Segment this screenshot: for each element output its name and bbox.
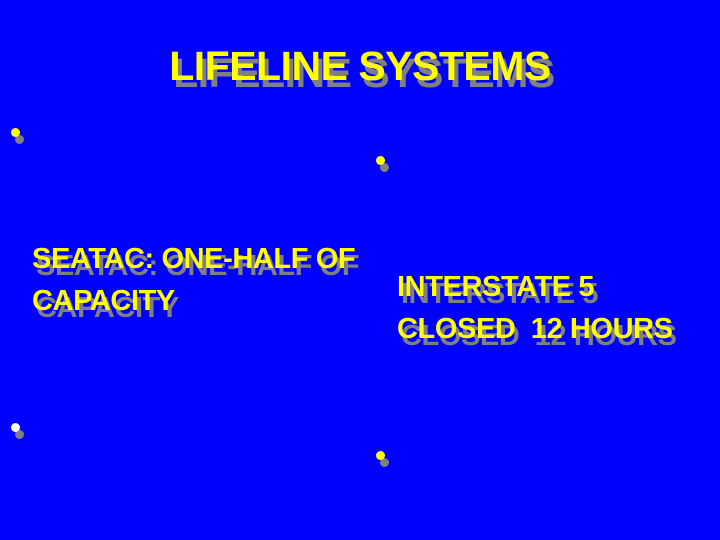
list-item-label: SEATAC: ONE-HALF OF CAPACITY [32, 238, 362, 322]
bullet-list-right: INTERSTATE 5 CLOSED 12 HOURS ALASKAN WAY… [371, 0, 720, 540]
bullet-column-left: SEATAC: ONE-HALF OF CAPACITY COMMUNICATI… [6, 0, 362, 540]
list-item-label: INTERSTATE 5 CLOSED 12 HOURS [397, 266, 720, 350]
bullet-dot-icon [11, 423, 20, 432]
bullet-column-right: INTERSTATE 5 CLOSED 12 HOURS ALASKAN WAY… [371, 0, 720, 540]
list-item-label: COMMUNICATIONS OUT 24 HOURS [32, 533, 362, 540]
bullet-dot-icon [376, 156, 385, 165]
bullet-list-left: SEATAC: ONE-HALF OF CAPACITY COMMUNICATI… [6, 0, 362, 540]
list-item: ALASKAN WAY VIADUCT OPEN-CLOSED-OPEN [371, 435, 720, 540]
bullet-dot-icon [376, 451, 385, 460]
list-item: SEATAC: ONE-HALF OF CAPACITY [6, 112, 362, 406]
bullet-dot-icon [11, 128, 20, 137]
list-item: INTERSTATE 5 CLOSED 12 HOURS [371, 140, 720, 434]
presentation-slide: LIFELINE SYSTEMS SEATAC: ONE-HALF OF CAP… [0, 0, 720, 540]
list-item: COMMUNICATIONS OUT 24 HOURS [6, 407, 362, 540]
